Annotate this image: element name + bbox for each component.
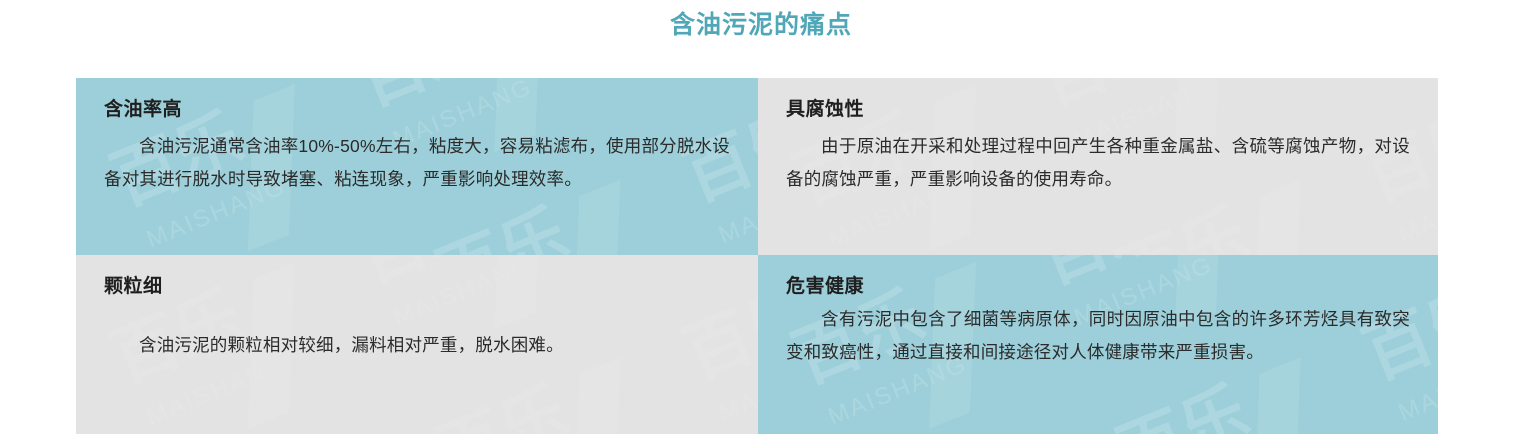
- card-heading: 危害健康: [786, 273, 1410, 301]
- card-health-hazard: 危害健康 含有污泥中包含了细菌等病原体，同时因原油中包含的许多环芳烃具有致突变和…: [758, 255, 1438, 434]
- card-body: 由于原油在开采和处理过程中回产生各种重金属盐、含硫等腐蚀产物，对设备的腐蚀严重，…: [786, 130, 1410, 196]
- card-body: 含油污泥通常含油率10%-50%左右，粘度大，容易粘滤布，使用部分脱水设备对其进…: [104, 130, 730, 196]
- card-heading: 具腐蚀性: [786, 96, 1410, 124]
- card-heading: 含油率高: [104, 96, 730, 124]
- card-fine-particles: 颗粒细 含油污泥的颗粒相对较细，漏料相对严重，脱水困难。: [76, 255, 758, 434]
- card-body: 含有污泥中包含了细菌等病原体，同时因原油中包含的许多环芳烃具有致突变和致癌性，通…: [786, 303, 1410, 369]
- card-oil-content: 百乐 MAISHANG 含油率高 含油污泥通常含油率10%-50%左右，粘度大，…: [76, 78, 758, 255]
- card-body: 含油污泥的颗粒相对较细，漏料相对严重，脱水困难。: [104, 329, 730, 362]
- card-heading: 颗粒细: [104, 273, 730, 301]
- card-corrosive: 具腐蚀性 由于原油在开采和处理过程中回产生各种重金属盐、含硫等腐蚀产物，对设备的…: [758, 78, 1438, 255]
- page-title: 含油污泥的痛点: [0, 8, 1522, 42]
- pain-points-grid: 百乐 MAISHANG 含油率高 含油污泥通常含油率10%-50%左右，粘度大，…: [76, 78, 1438, 434]
- slide-root: 含油污泥的痛点 百乐 MAISHANG 含油率高 含油污泥通常含油率10%-50…: [0, 0, 1522, 446]
